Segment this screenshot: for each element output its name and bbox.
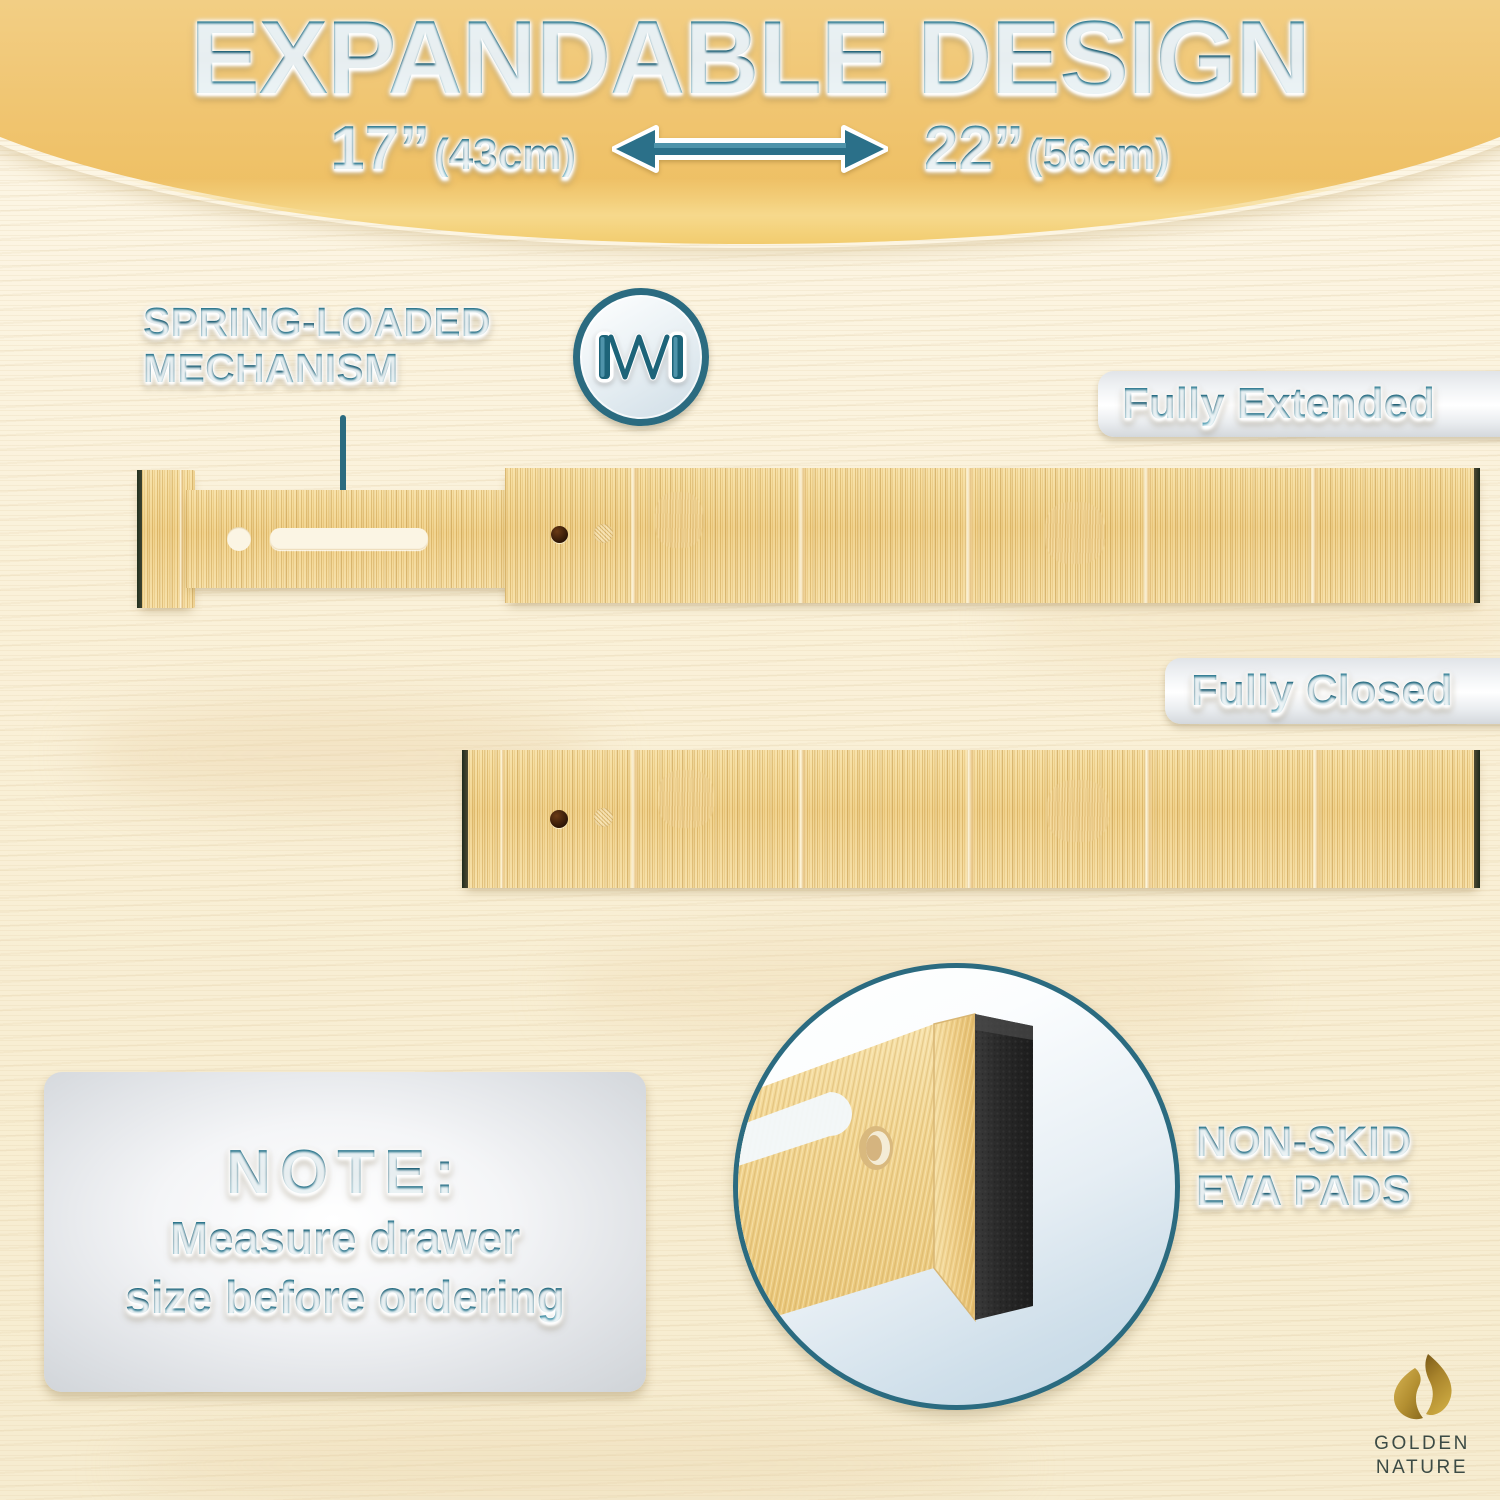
closed-left-edge (462, 750, 468, 888)
bamboo-knot (1047, 780, 1109, 842)
note-line-1: Measure drawer (170, 1211, 520, 1266)
bamboo-knot (1045, 502, 1105, 564)
min-inches-label: 17” (330, 118, 430, 180)
bamboo-node (965, 468, 974, 603)
body-plug-mark (594, 808, 613, 827)
bamboo-arm (738, 1024, 934, 1328)
eva-pad-edge (137, 470, 142, 608)
note-box: NOTE: Measure drawer size before orderin… (44, 1072, 646, 1392)
extended-main-body (505, 468, 1480, 603)
closed-main-body (462, 750, 1480, 888)
bamboo-node (1144, 750, 1153, 888)
body-right-edge (1474, 468, 1480, 603)
bamboo-knot (655, 492, 703, 548)
bamboo-node (1143, 468, 1152, 603)
bamboo-node (630, 468, 639, 603)
fully-closed-label: Fully Closed (1191, 669, 1453, 713)
extended-slider-arm (186, 490, 526, 588)
min-dimension: 17” (43cm) (330, 118, 576, 180)
max-dimension: 22” (56cm) (924, 118, 1170, 180)
note-line-2: size before ordering (125, 1270, 565, 1325)
max-cm-label: (56cm) (1028, 133, 1170, 177)
infographic-canvas: EXPANDABLE DESIGN 17” (43cm) (0, 0, 1500, 1500)
flame-leaf-icon (1385, 1352, 1459, 1432)
eva-pad-illustration (738, 968, 1165, 1395)
brand-logo: GOLDEN NATURE (1352, 1352, 1492, 1480)
arm-adjust-slot (270, 528, 428, 550)
page-title: EXPANDABLE DESIGN (0, 6, 1500, 110)
body-pin-hole (551, 526, 568, 543)
eva-pad-closeup-inset (733, 963, 1180, 1410)
eva-feature-text: NON-SKID EVA PADS (1196, 1118, 1496, 1217)
note-title: NOTE: (226, 1139, 464, 1207)
brand-name-line1: GOLDEN (1352, 1432, 1492, 1456)
spring-label-line1: SPRING-LOADED (143, 300, 573, 346)
body-pin-hole (550, 810, 568, 828)
eva-foam-pad (975, 1014, 1033, 1320)
bamboo-node (630, 750, 639, 888)
double-arrow-icon (612, 122, 888, 176)
eva-label-line1: NON-SKID (1196, 1118, 1496, 1167)
bamboo-node (1310, 468, 1319, 603)
spring-feature-text: SPRING-LOADED MECHANISM (143, 300, 573, 392)
max-inches-label: 22” (924, 118, 1024, 180)
fully-closed-badge: Fully Closed (1165, 658, 1500, 724)
coil-spring-icon (573, 288, 709, 426)
bamboo-node (798, 750, 807, 888)
fully-extended-badge: Fully Extended (1098, 371, 1500, 437)
bamboo-node (179, 470, 184, 608)
bamboo-node (1312, 750, 1321, 888)
brand-name-line2: NATURE (1352, 1456, 1492, 1480)
dimension-row: 17” (43cm) 22” (56cm) (0, 118, 1500, 180)
bamboo-knot (658, 770, 714, 828)
spring-label-line2: MECHANISM (143, 346, 573, 392)
min-cm-label: (43cm) (434, 133, 576, 177)
closed-right-edge (1474, 750, 1480, 888)
arm-round-hole (227, 527, 251, 551)
eva-label-line2: EVA PADS (1196, 1167, 1496, 1216)
end-cap (926, 1014, 976, 1320)
bamboo-node (966, 750, 975, 888)
body-plug-mark (594, 524, 613, 543)
wood-grain-blotch (120, 1420, 1020, 1500)
bamboo-node (500, 750, 505, 888)
fully-extended-label: Fully Extended (1122, 382, 1435, 426)
bamboo-node (798, 468, 807, 603)
